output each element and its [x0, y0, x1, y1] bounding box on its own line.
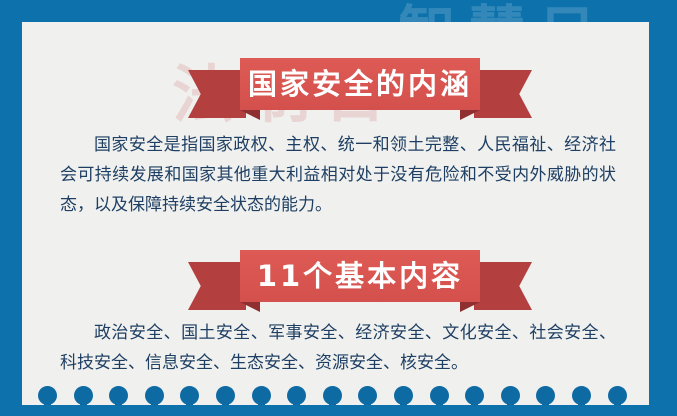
ribbon-body-2: 11个基本内容: [240, 250, 480, 302]
section-title-2: 11个基本内容: [257, 262, 463, 291]
section-banner-2: 11个基本内容: [188, 250, 532, 302]
ribbon-tail-left-icon: [188, 70, 246, 118]
ribbon-body-1: 国家安全的内涵: [240, 58, 480, 110]
section-banner-1: 国家安全的内涵: [188, 58, 532, 110]
infographic-poster: 智慧日 法制日 国家安全的内涵 国家安全是指国家政权、主权、统一和领土完整、人民…: [0, 0, 677, 416]
section-paragraph-1: 国家安全是指国家政权、主权、统一和领土完整、人民福祉、经济社会可持续发展和国家其…: [60, 130, 616, 220]
content-panel: 法制日 国家安全的内涵 国家安全是指国家政权、主权、统一和领土完整、人民福祉、经…: [22, 22, 649, 405]
section-title-1: 国家安全的内涵: [248, 70, 472, 99]
section-paragraph-2: 政治安全、国土安全、军事安全、经济安全、文化安全、社会安全、科技安全、信息安全、…: [60, 318, 616, 378]
ribbon-tail-right-icon: [474, 262, 532, 310]
ribbon-tail-right-icon: [474, 70, 532, 118]
ribbon-tail-left-icon: [188, 262, 246, 310]
bottom-bar: [0, 405, 677, 416]
